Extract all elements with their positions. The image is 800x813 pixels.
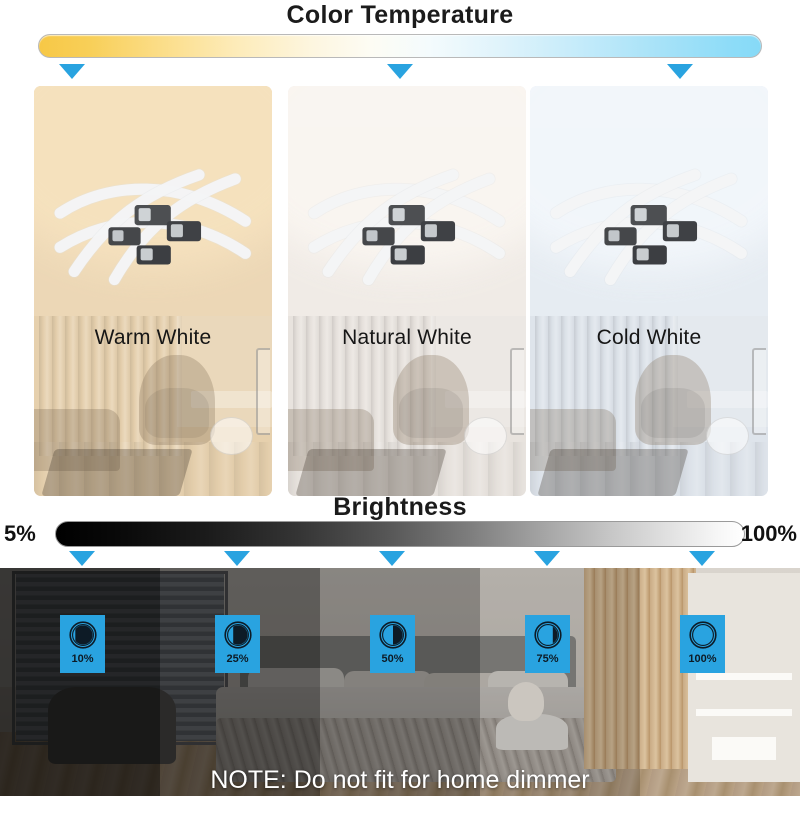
pointer-triangle xyxy=(667,64,693,79)
brightness-badge: 10% xyxy=(60,615,105,673)
color-temperature-label: Cold White xyxy=(530,326,768,350)
brightness-title: Brightness xyxy=(0,492,800,522)
dim-band xyxy=(160,568,320,796)
brightness-badge-label: 10% xyxy=(71,653,93,665)
dim-band xyxy=(320,568,480,796)
bedroom-brightness-scene: 10%25%50%75%100% xyxy=(0,568,800,796)
led-ceiling-lamp xyxy=(302,135,511,315)
color-temperature-panel: Natural White xyxy=(288,86,526,496)
note-text: NOTE: Do not fit for home dimmer xyxy=(0,765,800,795)
led-ceiling-lamp xyxy=(48,135,257,315)
brightness-dial-icon xyxy=(687,619,719,651)
door-frame xyxy=(752,348,766,435)
pouf xyxy=(464,417,506,455)
brightness-badge-label: 75% xyxy=(536,653,558,665)
pointer-triangle xyxy=(387,64,413,79)
rug xyxy=(296,449,447,496)
pointer-triangle xyxy=(689,551,715,566)
brightness-gradient-bar xyxy=(55,521,745,547)
rug xyxy=(538,449,689,496)
brightness-badge-label: 100% xyxy=(688,653,716,665)
color-temperature-label: Warm White xyxy=(34,326,272,350)
room-scene xyxy=(34,86,272,496)
brightness-badge: 75% xyxy=(525,615,570,673)
brightness-dial-icon xyxy=(222,619,254,651)
pointer-triangle xyxy=(379,551,405,566)
color-temperature-label: Natural White xyxy=(288,326,526,350)
pointer-triangle xyxy=(69,551,95,566)
brightness-dial-icon xyxy=(67,619,99,651)
pouf xyxy=(210,417,252,455)
color-temperature-panel: Warm White xyxy=(34,86,272,496)
brightness-max-label: 100% xyxy=(741,521,797,547)
door-frame xyxy=(510,348,524,435)
pointer-triangle xyxy=(59,64,85,79)
brightness-dial-icon xyxy=(377,619,409,651)
dim-band xyxy=(0,568,160,796)
rug xyxy=(42,449,193,496)
room-scene xyxy=(288,86,526,496)
color-temperature-panel: Cold White xyxy=(530,86,768,496)
pouf xyxy=(706,417,748,455)
brightness-dial-icon xyxy=(532,619,564,651)
armchair xyxy=(393,355,469,445)
brightness-badge: 100% xyxy=(680,615,725,673)
color-temperature-gradient-bar xyxy=(38,34,762,58)
led-ceiling-lamp xyxy=(544,135,753,315)
pointer-triangle xyxy=(224,551,250,566)
brightness-badge-label: 25% xyxy=(226,653,248,665)
brightness-badge-label: 50% xyxy=(381,653,403,665)
brightness-min-label: 5% xyxy=(4,521,36,547)
armchair xyxy=(635,355,711,445)
door-frame xyxy=(256,348,270,435)
brightness-badge: 50% xyxy=(370,615,415,673)
armchair xyxy=(139,355,215,445)
dim-band xyxy=(480,568,640,796)
brightness-badge: 25% xyxy=(215,615,260,673)
color-temperature-title: Color Temperature xyxy=(0,0,800,30)
room-scene xyxy=(530,86,768,496)
pointer-triangle xyxy=(534,551,560,566)
